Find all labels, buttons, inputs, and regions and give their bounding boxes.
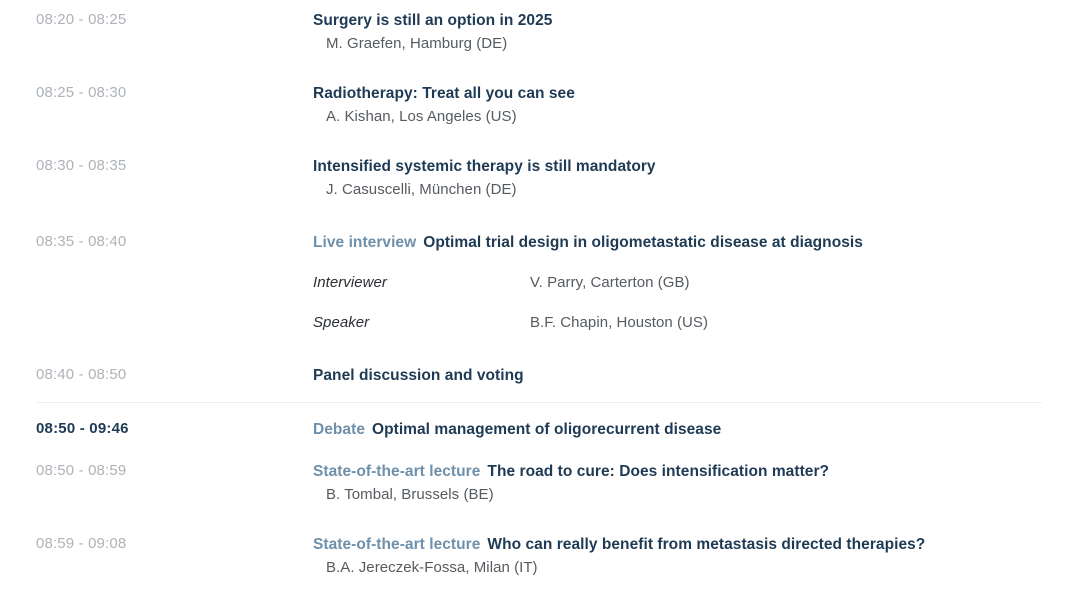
- block-time: 08:50 - 09:46: [0, 418, 313, 440]
- role-person: B.F. Chapin, Houston (US): [530, 312, 708, 334]
- session-time: 08:35 - 08:40: [0, 231, 313, 253]
- role-row-speaker: Speaker B.F. Chapin, Houston (US): [313, 312, 1042, 334]
- session-body: State-of-the-art lectureWho can really b…: [313, 533, 1080, 579]
- block-title-line: DebateOptimal management of oligorecurre…: [313, 418, 1042, 441]
- session-body: Live interviewOptimal trial design in ol…: [313, 231, 1080, 334]
- row-spacer: [0, 391, 1080, 402]
- session-title: Intensified systemic therapy is still ma…: [313, 158, 656, 175]
- session-speaker: J. Casuscelli, München (DE): [313, 178, 1042, 201]
- row-spacer: [0, 445, 1080, 456]
- session-title-line: Live interviewOptimal trial design in ol…: [313, 231, 1042, 254]
- row-spacer: [0, 510, 1080, 529]
- session-body: Surgery is still an option in 2025 M. Gr…: [313, 9, 1080, 55]
- session-kind-label: State-of-the-art lecture: [313, 536, 480, 553]
- session-title: Radiotherapy: Treat all you can see: [313, 85, 575, 102]
- role-row-interviewer: Interviewer V. Parry, Carterton (GB): [313, 272, 1042, 294]
- session-title-line: Radiotherapy: Treat all you can see: [313, 82, 1042, 105]
- agenda-row[interactable]: 08:30 - 08:35 Intensified systemic thera…: [0, 151, 1080, 205]
- session-body: State-of-the-art lectureThe road to cure…: [313, 460, 1080, 506]
- session-title-line: Intensified systemic therapy is still ma…: [313, 155, 1042, 178]
- session-time: 08:40 - 08:50: [0, 364, 313, 386]
- role-label: Speaker: [313, 312, 530, 334]
- session-body: Radiotherapy: Treat all you can see A. K…: [313, 82, 1080, 128]
- session-time: 08:20 - 08:25: [0, 9, 313, 31]
- agenda-block-header-debate[interactable]: 08:50 - 09:46 DebateOptimal management o…: [0, 414, 1080, 445]
- row-spacer: [0, 403, 1080, 414]
- session-title-line: State-of-the-art lectureThe road to cure…: [313, 460, 1042, 483]
- session-body: Panel discussion and voting: [313, 364, 1080, 387]
- agenda-list: 08:20 - 08:25 Surgery is still an option…: [0, 0, 1080, 583]
- agenda-row-live-interview[interactable]: 08:35 - 08:40 Live interviewOptimal tria…: [0, 227, 1080, 338]
- session-title-line: Surgery is still an option in 2025: [313, 9, 1042, 32]
- agenda-row[interactable]: 08:25 - 08:30 Radiotherapy: Treat all yo…: [0, 78, 1080, 132]
- session-kind-label: State-of-the-art lecture: [313, 463, 480, 480]
- row-spacer: [0, 132, 1080, 151]
- session-speaker: M. Graefen, Hamburg (DE): [313, 32, 1042, 55]
- session-title: The road to cure: Does intensification m…: [487, 463, 829, 480]
- block-kind-label: Debate: [313, 421, 365, 438]
- session-time: 08:50 - 08:59: [0, 460, 313, 482]
- role-person: V. Parry, Carterton (GB): [530, 272, 690, 294]
- session-title: Panel discussion and voting: [313, 367, 524, 384]
- session-body: Intensified systemic therapy is still ma…: [313, 155, 1080, 201]
- session-title: Who can really benefit from metastasis d…: [487, 536, 925, 553]
- agenda-row[interactable]: 08:50 - 08:59 State-of-the-art lectureTh…: [0, 456, 1080, 510]
- agenda-row[interactable]: 08:20 - 08:25 Surgery is still an option…: [0, 5, 1080, 59]
- session-speaker: B. Tombal, Brussels (BE): [313, 483, 1042, 506]
- session-title: Optimal trial design in oligometastatic …: [423, 234, 863, 251]
- row-spacer: [0, 59, 1080, 78]
- block-title: Optimal management of oligorecurrent dis…: [372, 421, 721, 438]
- row-spacer: [0, 205, 1080, 227]
- session-title: Surgery is still an option in 2025: [313, 12, 552, 29]
- session-speaker: A. Kishan, Los Angeles (US): [313, 105, 1042, 128]
- block-body: DebateOptimal management of oligorecurre…: [313, 418, 1080, 441]
- agenda-row[interactable]: 08:59 - 09:08 State-of-the-art lectureWh…: [0, 529, 1080, 583]
- session-speaker: B.A. Jereczek-Fossa, Milan (IT): [313, 556, 1042, 579]
- session-time: 08:25 - 08:30: [0, 82, 313, 104]
- row-spacer: [0, 338, 1080, 360]
- agenda-row-panel-discussion[interactable]: 08:40 - 08:50 Panel discussion and votin…: [0, 360, 1080, 391]
- session-title-line: State-of-the-art lectureWho can really b…: [313, 533, 1042, 556]
- role-label: Interviewer: [313, 272, 530, 294]
- session-title-line: Panel discussion and voting: [313, 364, 1042, 387]
- session-time: 08:30 - 08:35: [0, 155, 313, 177]
- session-kind-label: Live interview: [313, 234, 416, 251]
- session-time: 08:59 - 09:08: [0, 533, 313, 555]
